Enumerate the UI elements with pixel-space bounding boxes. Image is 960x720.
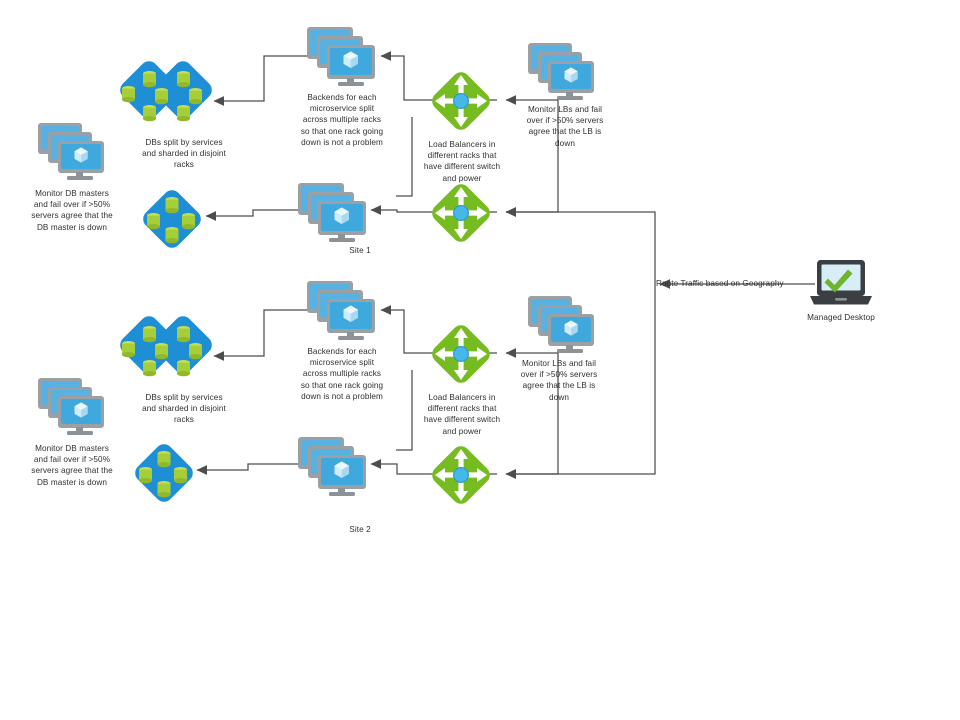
- site1-lb-monitor-caption: Monitor LBs and fail over if >50% server…: [512, 104, 618, 149]
- server-stack-icon: [34, 375, 108, 440]
- server-stack-icon: [294, 180, 372, 248]
- server-stack-icon: [524, 40, 598, 105]
- load-balancer-icon: [425, 65, 497, 137]
- site1-backend-servers-upper[interactable]: [303, 24, 381, 92]
- site1-backend-upper-caption: Backends for each microservice split acr…: [283, 92, 401, 148]
- diagram-canvas: Monitor DB masters and fail over if >50%…: [0, 0, 960, 720]
- managed-desktop[interactable]: [808, 258, 874, 310]
- site2-database-cluster-caption: DBs split by services and sharded in dis…: [118, 392, 250, 426]
- managed-desktop-caption: Managed Desktop: [792, 312, 890, 323]
- load-balancer-icon: [425, 318, 497, 390]
- server-stack-icon: [303, 278, 381, 346]
- server-stack-icon: [524, 293, 598, 358]
- site2-db-monitor-caption: Monitor DB masters and fail over if >50%…: [8, 443, 136, 488]
- laptop-check-icon: [808, 258, 874, 310]
- database-single-icon: [130, 440, 198, 506]
- site-1-label: Site 1: [330, 245, 390, 256]
- site2-load-balancer-upper[interactable]: [425, 318, 497, 390]
- edge-backends-low-to-db-1: [206, 210, 300, 216]
- site2-backend-upper-caption: Backends for each microservice split acr…: [283, 346, 401, 402]
- site1-load-balancer-upper[interactable]: [425, 65, 497, 137]
- edge-backends-low-to-db-2: [197, 464, 300, 470]
- site1-db-monitor-caption: Monitor DB masters and fail over if >50%…: [8, 188, 136, 233]
- site2-load-balancer-caption: Load Balancers in different racks that h…: [403, 392, 521, 437]
- site2-load-balancer-lower[interactable]: [425, 439, 497, 511]
- load-balancer-icon: [425, 177, 497, 249]
- database-cluster-icon: [110, 312, 214, 396]
- site2-database-shard[interactable]: [130, 440, 198, 506]
- site1-database-cluster-caption: DBs split by services and sharded in dis…: [118, 137, 250, 171]
- site1-database-cluster[interactable]: [110, 57, 214, 141]
- site2-database-cluster[interactable]: [110, 312, 214, 396]
- edge-geo-route-to-site1: [506, 212, 655, 296]
- site1-lb-monitor-servers[interactable]: [524, 40, 598, 105]
- site2-db-monitor-servers[interactable]: [34, 375, 108, 440]
- site2-lb-monitor-servers[interactable]: [524, 293, 598, 358]
- database-cluster-icon: [110, 57, 214, 141]
- database-single-icon: [138, 186, 206, 252]
- site1-database-shard[interactable]: [138, 186, 206, 252]
- site1-db-monitor-servers[interactable]: [34, 120, 108, 185]
- server-stack-icon: [294, 434, 372, 502]
- site1-backend-servers-lower[interactable]: [294, 180, 372, 248]
- site-2-label: Site 2: [330, 524, 390, 535]
- server-stack-icon: [303, 24, 381, 92]
- server-stack-icon: [34, 120, 108, 185]
- route-traffic-label: Route Traffic based on Geography: [656, 278, 816, 289]
- site1-load-balancer-lower[interactable]: [425, 177, 497, 249]
- site2-backend-servers-lower[interactable]: [294, 434, 372, 502]
- site2-lb-monitor-caption: Monitor LBs and fail over if >50% server…: [506, 358, 612, 403]
- load-balancer-icon: [425, 439, 497, 511]
- site2-backend-servers-upper[interactable]: [303, 278, 381, 346]
